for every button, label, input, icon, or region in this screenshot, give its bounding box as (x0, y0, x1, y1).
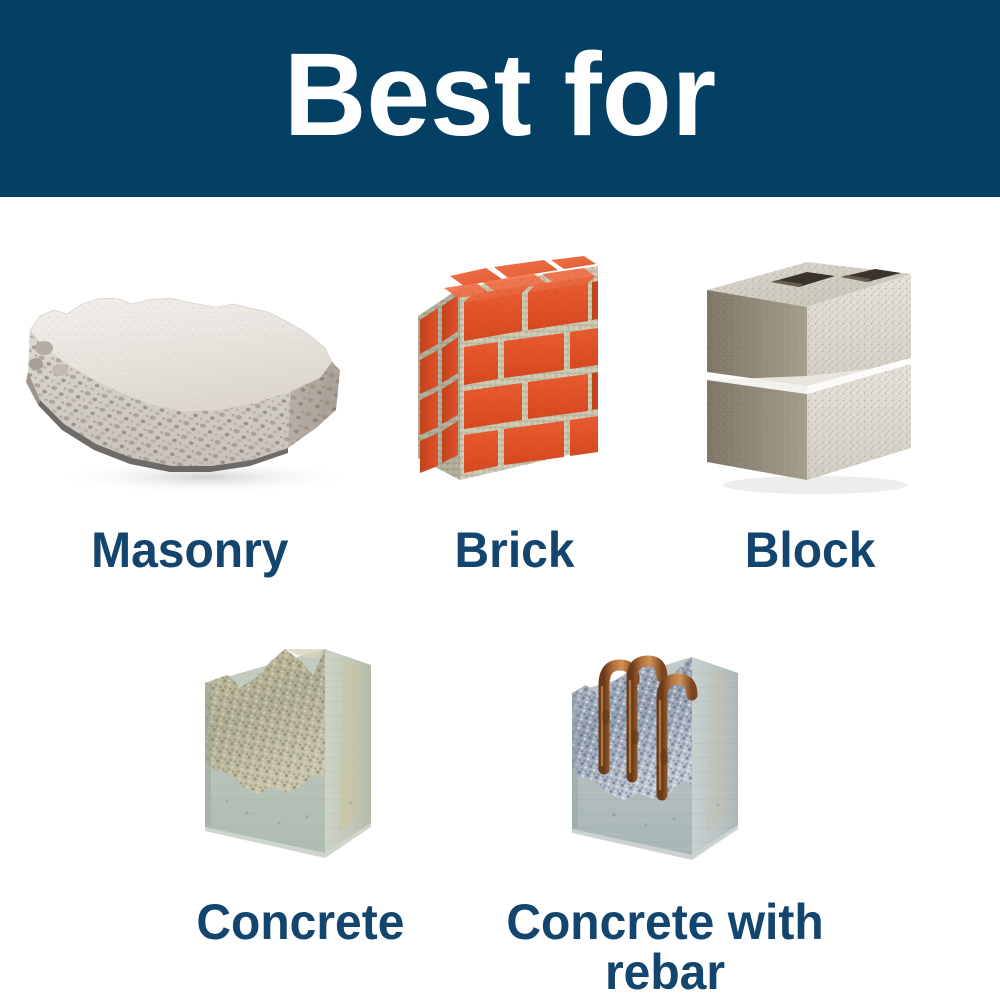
masonry-chunk-image (20, 252, 360, 497)
material-label-masonry: Masonry (91, 525, 288, 575)
concrete-rebar-art-box (465, 597, 865, 867)
material-card-brick[interactable]: Brick (370, 197, 660, 587)
material-card-concrete[interactable]: Concrete (135, 597, 465, 997)
brick-wall-image (398, 252, 633, 497)
material-label-block: Block (745, 525, 876, 575)
material-label-brick: Brick (455, 525, 575, 575)
masonry-art-box (10, 197, 370, 497)
concrete-cutaway-image (175, 617, 425, 867)
material-card-concrete-rebar[interactable]: Concrete with rebar (465, 597, 865, 997)
page-title: Best for (284, 36, 716, 162)
concrete-art-box (135, 597, 465, 867)
material-card-block[interactable]: Block (660, 197, 960, 587)
block-art-box (660, 197, 960, 497)
material-label-concrete: Concrete (196, 897, 404, 947)
concrete-block-image (695, 252, 925, 497)
materials-grid: Masonry (0, 197, 1000, 1000)
header-banner: Best for (0, 0, 1000, 197)
materials-row-bottom: Concrete (0, 597, 1000, 997)
material-label-concrete-rebar: Concrete with rebar (473, 897, 857, 997)
concrete-rebar-cutaway-image (540, 617, 790, 867)
materials-row-top: Masonry (0, 197, 1000, 587)
material-card-masonry[interactable]: Masonry (10, 197, 370, 587)
brick-art-box (370, 197, 660, 497)
